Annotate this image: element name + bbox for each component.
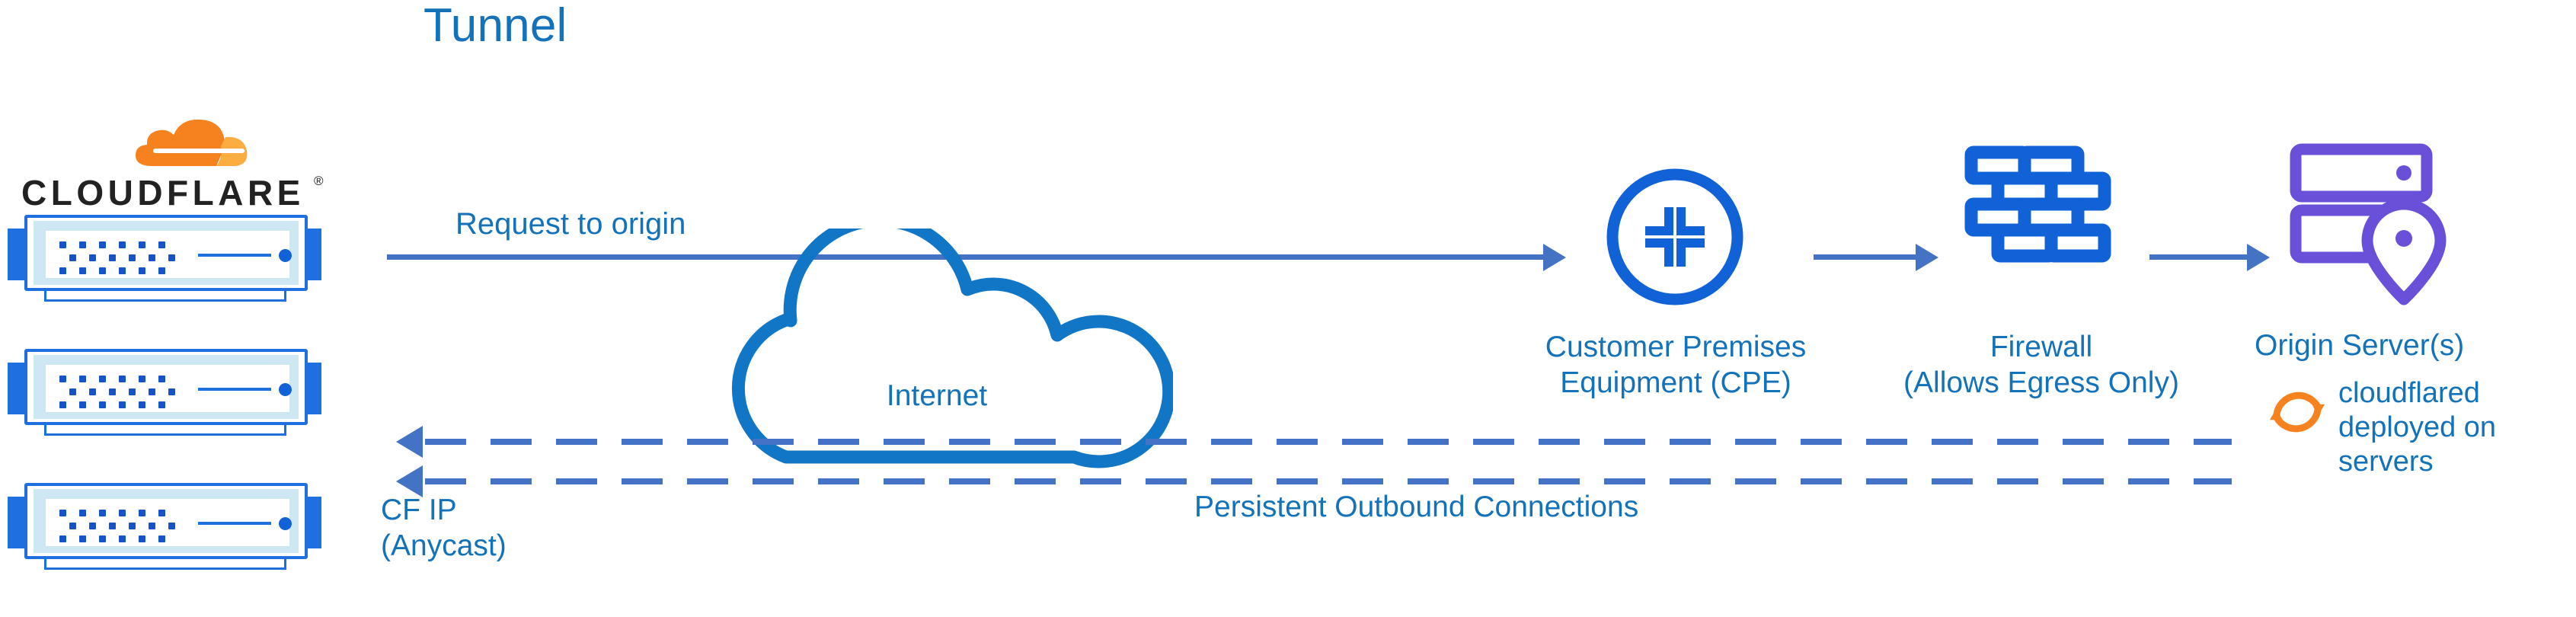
server-chassis (24, 349, 308, 425)
firewall-to-origin-arrow-line (2149, 254, 2250, 260)
server-status-line (198, 254, 271, 257)
request-to-origin-label: Request to origin (455, 207, 686, 241)
edge-server-2 (8, 349, 321, 434)
server-base (44, 559, 286, 570)
server-base (44, 291, 286, 302)
server-bezel (34, 355, 299, 419)
cpe-label-line2: Equipment (CPE) (1502, 365, 1849, 401)
server-status-line (198, 522, 271, 525)
server-base (44, 425, 286, 436)
firewall-label-line1: Firewall (1874, 329, 2209, 365)
persistent-connection-line-1 (425, 439, 2232, 445)
firewall-label: Firewall (Allows Egress Only) (1874, 329, 2209, 401)
cf-ip-anycast-label: CF IP (Anycast) (381, 492, 632, 564)
page-title: Tunnel (423, 0, 567, 53)
cloudflared-annotation-text: cloudflared deployed on servers (2338, 376, 2567, 479)
orange-sync-circular-arrows-icon (2266, 381, 2328, 443)
firewall-label-line2: (Allows Egress Only) (1874, 365, 2209, 401)
server-face (46, 365, 289, 412)
server-face (46, 499, 289, 546)
four-arrows-in-circle-icon (1603, 165, 1747, 309)
server-led-indicator (279, 383, 292, 396)
cf-ip-line2: (Anycast) (381, 528, 632, 564)
server-status-line (198, 388, 271, 391)
cf-ip-line1: CF IP (381, 492, 632, 528)
persistent-connection-line-2 (425, 478, 2232, 484)
brick-wall-icon (1964, 145, 2116, 282)
cloudflare-cloud-icon (21, 113, 320, 175)
server-led-indicator (279, 517, 292, 530)
server-led-indicator (279, 249, 292, 262)
cloudflare-wordmark: CLOUDFLARE (21, 172, 309, 213)
cloudflare-logo: CLOUDFLARE ® (21, 113, 320, 210)
cloudflared-annotation-icon-wrap (2266, 381, 2328, 443)
persistent-connection-arrow-head-1-icon (396, 426, 423, 458)
diagram-canvas: Tunnel CLOUDFLARE ® (0, 0, 2576, 617)
registered-mark: ® (314, 174, 324, 189)
server-rack-with-location-pin-icon (2290, 143, 2451, 307)
server-face (46, 231, 289, 278)
internet-label: Internet (701, 379, 1173, 413)
cloudflared-line3: servers (2338, 445, 2567, 479)
persistent-outbound-connections-label: Persistent Outbound Connections (1194, 491, 1773, 524)
cloudflared-line2: deployed on (2338, 411, 2567, 445)
request-arrow-head-icon (1543, 244, 1566, 271)
firewall-node (1964, 145, 2116, 282)
server-bezel (34, 221, 299, 285)
server-bezel (34, 489, 299, 553)
cpe-to-firewall-arrow-line (1814, 254, 1919, 260)
origin-server-node (2290, 143, 2451, 307)
cpe-label-line1: Customer Premises (1502, 329, 1849, 365)
cpe-to-firewall-arrow-head-icon (1916, 244, 1938, 271)
server-chassis (24, 483, 308, 559)
firewall-to-origin-arrow-head-icon (2247, 244, 2270, 271)
server-chassis (24, 215, 308, 291)
edge-server-3 (8, 483, 321, 568)
cpe-node (1603, 165, 1747, 309)
edge-server-1 (8, 215, 321, 300)
origin-server-label: Origin Server(s) (2255, 329, 2574, 363)
cloudflared-line1: cloudflared (2338, 376, 2567, 411)
cpe-label: Customer Premises Equipment (CPE) (1502, 329, 1849, 401)
